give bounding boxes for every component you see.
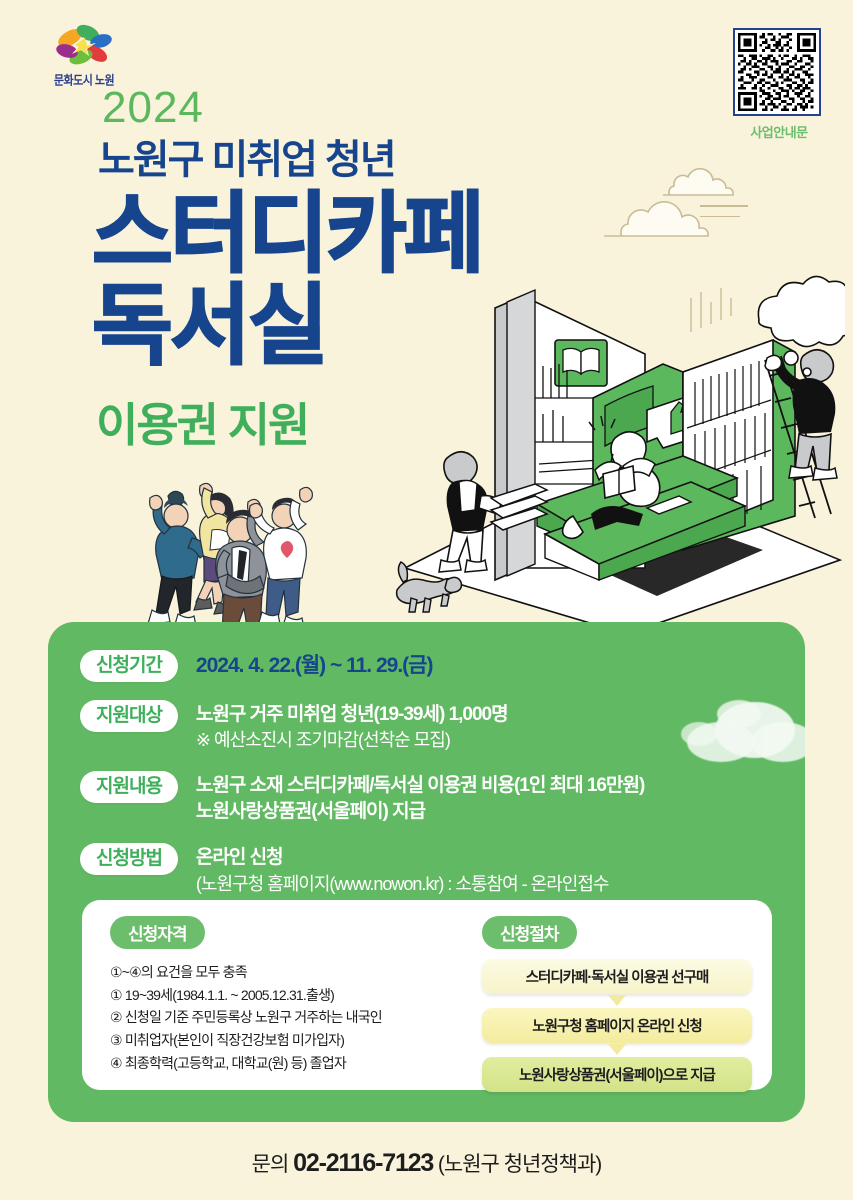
procedure-step: 노원사랑상품권(서울페이)으로 지급 xyxy=(482,1057,752,1092)
info-row-target: 지원대상 노원구 거주 미취업 청년(19-39세) 1,000명 ※ 예산소진… xyxy=(80,700,805,753)
qualification-item: ④ 최종학력(고등학교, 대학교(원) 등) 졸업자 xyxy=(110,1052,470,1075)
qualification-item: ② 신청일 기준 주민등록상 노원구 거주하는 내국인 xyxy=(110,1006,470,1029)
info-body-period: 2024. 4. 22.(월) ~ 11. 29.(금) xyxy=(196,650,433,681)
library-illustration xyxy=(395,268,845,638)
contact-phone[interactable]: 02-2116-7123 xyxy=(293,1149,433,1177)
qualification-item: ①~④의 요건을 모두 충족 xyxy=(110,961,470,984)
cloud-outline-small-icon xyxy=(657,167,739,203)
info-label-target: 지원대상 xyxy=(80,700,178,732)
qr-label: 사업안내문 xyxy=(733,122,825,141)
info-body-method: 온라인 신청 (노원구청 홈페이지(www.nowon.kr) : 소통참여 -… xyxy=(196,843,609,896)
flow-arrow-down-icon xyxy=(482,994,752,1008)
page-title-line3: 이용권 지원 xyxy=(96,402,308,448)
qualification-item: ③ 미취업자(본인이 직장건강보험 미가입자) xyxy=(110,1029,470,1052)
procedure-title: 신청절차 xyxy=(482,916,577,949)
info-row-method: 신청방법 온라인 신청 (노원구청 홈페이지(www.nowon.kr) : 소… xyxy=(80,843,805,896)
qr-code[interactable] xyxy=(733,28,821,116)
info-value-target-2: ※ 예산소진시 조기마감(선착순 모집) xyxy=(196,728,508,753)
procedure-flow: 스터디카페·독서실 이용권 선구매 노원구청 홈페이지 온라인 신청 노원사랑상… xyxy=(482,959,752,1092)
info-label-period: 신청기간 xyxy=(80,650,178,682)
info-value-target-1: 노원구 거주 미취업 청년(19-39세) 1,000명 xyxy=(196,702,508,728)
qualification-item: ① 19~39세(1984.1.1. ~ 2005.12.31.출생) xyxy=(110,984,470,1007)
details-card: 신청자격 ①~④의 요건을 모두 충족 ① 19~39세(1984.1.1. ~… xyxy=(82,900,772,1090)
info-row-period: 신청기간 2024. 4. 22.(월) ~ 11. 29.(금) xyxy=(80,650,805,682)
contact-footer: 문의 02-2116-7123 (노원구 청년정책과) xyxy=(0,1148,853,1178)
info-body-support: 노원구 소재 스터디카페/독서실 이용권 비용(1인 최대 16만원) 노원사랑… xyxy=(196,771,644,825)
info-value-method-2: (노원구청 홈페이지(www.nowon.kr) : 소통참여 - 온라인접수 xyxy=(196,872,609,897)
info-value-method-1: 온라인 신청 xyxy=(196,845,609,871)
page-year: 2024 xyxy=(102,86,204,130)
poster-root: 문화도시 노원 xyxy=(0,0,853,1200)
decorative-lines xyxy=(700,205,748,226)
procedure-step: 노원구청 홈페이지 온라인 신청 xyxy=(482,1008,752,1043)
info-value-support-1: 노원구 소재 스터디카페/독서실 이용권 비용(1인 최대 16만원) xyxy=(196,773,644,799)
info-value-support-2: 노원사랑상품권(서울페이) 지급 xyxy=(196,799,644,825)
info-body-target: 노원구 거주 미취업 청년(19-39세) 1,000명 ※ 예산소진시 조기마… xyxy=(196,700,508,753)
qualification-section: 신청자격 ①~④의 요건을 모두 충족 ① 19~39세(1984.1.1. ~… xyxy=(110,916,470,1074)
page-title-line1: 스터디카페 xyxy=(92,190,482,278)
page-subtitle: 노원구 미취업 청년 xyxy=(98,140,395,180)
info-label-support: 지원내용 xyxy=(80,771,178,803)
contact-department: (노원구 청년정책과) xyxy=(438,1153,601,1176)
procedure-step: 스터디카페·독서실 이용권 선구매 xyxy=(482,959,752,994)
qr-section[interactable]: 사업안내문 xyxy=(733,28,825,141)
procedure-section: 신청절차 스터디카페·독서실 이용권 선구매 노원구청 홈페이지 온라인 신청 … xyxy=(482,916,752,1092)
info-value-period: 2024. 4. 22.(월) ~ 11. 29.(금) xyxy=(196,652,433,681)
cheering-people-illustration xyxy=(140,468,345,640)
cloud-outline-large-icon xyxy=(596,198,716,244)
flow-arrow-down-icon xyxy=(482,1043,752,1057)
info-label-method: 신청방법 xyxy=(80,843,178,875)
info-rows: 신청기간 2024. 4. 22.(월) ~ 11. 29.(금) 지원대상 노… xyxy=(48,622,805,900)
contact-prefix: 문의 xyxy=(252,1153,289,1176)
qualification-list: ①~④의 요건을 모두 충족 ① 19~39세(1984.1.1. ~ 2005… xyxy=(110,961,470,1074)
page-title-line2: 독서실 xyxy=(92,282,326,370)
info-row-support: 지원내용 노원구 소재 스터디카페/독서실 이용권 비용(1인 최대 16만원)… xyxy=(80,771,805,825)
qualification-title: 신청자격 xyxy=(110,916,205,949)
